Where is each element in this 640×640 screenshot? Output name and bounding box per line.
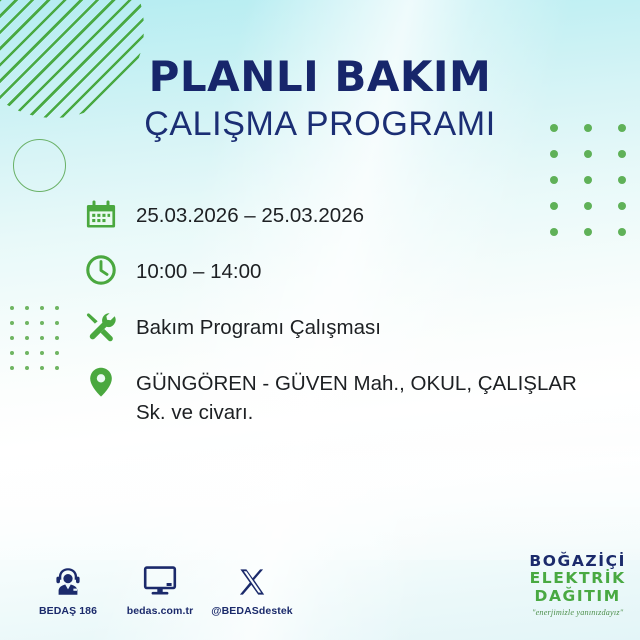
detail-row-time: 10:00 – 14:00 <box>84 253 614 287</box>
detail-row-date: 25.03.2026 – 25.03.2026 <box>84 197 614 231</box>
detail-value-worktype: Bakım Programı Çalışması <box>136 309 381 342</box>
logo-line-bogazici: BOĞAZİÇİ <box>529 553 626 570</box>
poster-footer: BEDAŞ 186 bedas.com.tr <box>0 544 640 640</box>
contact-label-call-center: BEDAŞ 186 <box>22 605 114 617</box>
dot-grid-left-decoration <box>10 306 70 381</box>
page-title-primary: PLANLI BAKIM <box>0 56 640 98</box>
detail-row-worktype: Bakım Programı Çalışması <box>84 309 614 343</box>
x-twitter-icon <box>206 558 298 598</box>
support-headset-icon <box>22 558 114 598</box>
contact-website[interactable]: bedas.com.tr <box>114 558 206 617</box>
contact-channels: BEDAŞ 186 bedas.com.tr <box>22 558 298 617</box>
logo-line-dagitim: DAĞITIM <box>529 588 626 605</box>
tools-icon <box>84 309 118 343</box>
detail-value-location: GÜNGÖREN - GÜVEN Mah., OKUL, ÇALIŞLAR Sk… <box>136 365 606 427</box>
page-title-secondary: ÇALIŞMA PROGRAMI <box>0 107 640 141</box>
logo-tagline: "enerjimizle yanınızdayız" <box>529 608 626 617</box>
location-pin-icon <box>84 365 118 399</box>
monitor-icon <box>114 558 206 598</box>
logo-line-elektrik: ELEKTRİK <box>529 570 626 587</box>
detail-row-location: GÜNGÖREN - GÜVEN Mah., OKUL, ÇALIŞLAR Sk… <box>84 365 614 427</box>
maintenance-details-list: 25.03.2026 – 25.03.2026 10:00 – 14:00 <box>84 197 614 449</box>
contact-x-account[interactable]: @BEDASdestek <box>206 558 298 617</box>
contact-label-x-account: @BEDASdestek <box>206 605 298 617</box>
company-logo: BOĞAZİÇİ ELEKTRİK DAĞITIM "enerjimizle y… <box>529 553 626 617</box>
calendar-icon <box>84 197 118 231</box>
poster-header: PLANLI BAKIM ÇALIŞMA PROGRAMI <box>0 56 640 141</box>
detail-value-date: 25.03.2026 – 25.03.2026 <box>136 197 364 230</box>
planned-maintenance-poster: PLANLI BAKIM ÇALIŞMA PROGRAMI <box>0 0 640 640</box>
circle-outline-decoration <box>13 139 66 192</box>
contact-label-website: bedas.com.tr <box>114 605 206 617</box>
detail-value-time: 10:00 – 14:00 <box>136 253 261 286</box>
contact-call-center[interactable]: BEDAŞ 186 <box>22 558 114 617</box>
clock-icon <box>84 253 118 287</box>
